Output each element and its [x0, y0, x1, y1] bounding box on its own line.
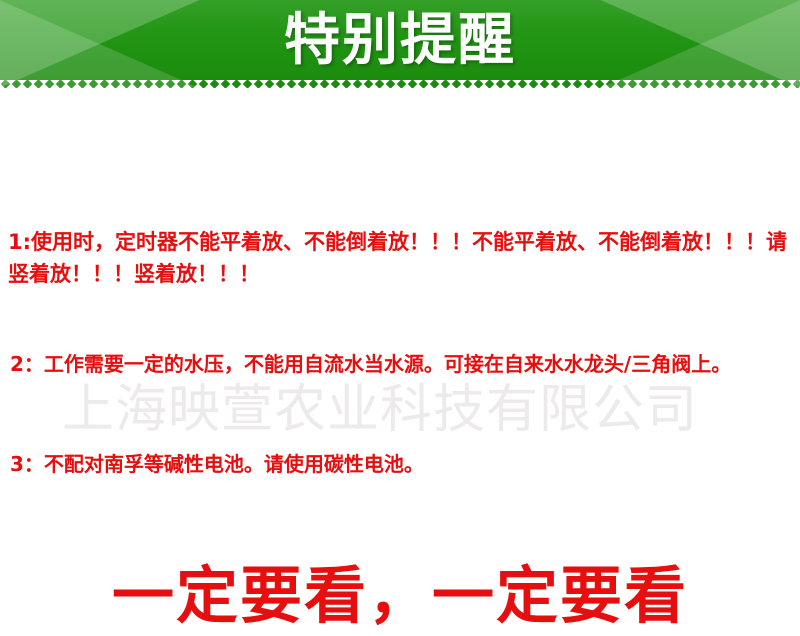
notice-item-3: 3：不配对南孚等碱性电池。请使用碳性电池。 [10, 449, 800, 479]
header-banner: 特别提醒 [0, 0, 800, 88]
company-watermark: 上海映萱农业科技有限公司 [62, 382, 742, 438]
call-to-action-headline: 一定要看，一定要看 [0, 556, 800, 636]
notice-content: 上海映萱农业科技有限公司 1:使用时，定时器不能平着放、不能倒着放！！！不能平着… [0, 88, 800, 615]
notice-item-1: 1:使用时，定时器不能平着放、不能倒着放！！！不能平着放、不能倒着放！！！请竖着… [8, 226, 798, 290]
banner-zigzag-edge-decoration [0, 80, 800, 88]
notice-item-2: 2：工作需要一定的水压，不能用自流水当水源。可接在自来水水龙头/三角阀上。 [10, 349, 800, 379]
banner-title: 特别提醒 [0, 4, 800, 78]
